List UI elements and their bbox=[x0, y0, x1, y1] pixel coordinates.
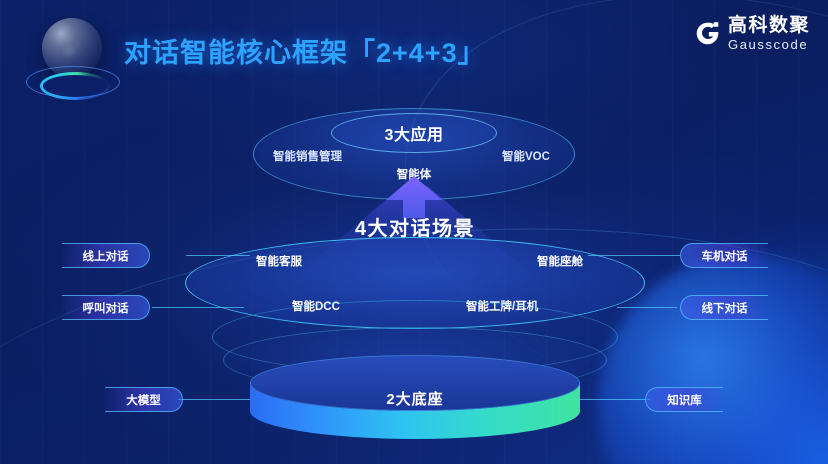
page-title: 对话智能核心框架「2+4+3」 bbox=[124, 31, 486, 70]
connector-line-invehicle bbox=[588, 255, 680, 256]
scenario-item-cockpit: 智能座舱 bbox=[537, 253, 583, 269]
connector-line-knowledge bbox=[570, 399, 650, 400]
brand-name-en: Gausscode bbox=[728, 38, 810, 51]
foundation-layer-title: 2大底座 bbox=[250, 388, 580, 409]
channel-pill-online[interactable]: 线上对话 bbox=[62, 243, 150, 268]
gausscode-g-mark-icon bbox=[694, 20, 721, 47]
brand-logo: 高科数聚 Gausscode bbox=[694, 16, 810, 51]
brand-logo-text: 高科数聚 Gausscode bbox=[728, 16, 810, 51]
application-item-sales: 智能销售管理 bbox=[273, 148, 342, 164]
connector-line-call bbox=[152, 307, 244, 308]
scenario-item-customer-service: 智能客服 bbox=[256, 253, 302, 269]
slide-canvas: 对话智能核心框架「2+4+3」 高科数聚 Gausscode 3大应用 智能销售… bbox=[0, 0, 828, 464]
application-layer-title: 3大应用 bbox=[331, 121, 497, 145]
foundation-pill-llm[interactable]: 大模型 bbox=[105, 387, 183, 412]
channel-pill-call[interactable]: 呼叫对话 bbox=[62, 295, 150, 320]
brand-name-cn: 高科数聚 bbox=[728, 16, 810, 35]
sphere-3d-icon bbox=[26, 14, 118, 102]
connector-line-offline bbox=[617, 307, 677, 308]
application-item-voc: 智能VOC bbox=[502, 148, 550, 164]
sphere-ring-inner bbox=[40, 72, 110, 100]
connector-line-online bbox=[186, 255, 250, 256]
channel-pill-invehicle[interactable]: 车机对话 bbox=[680, 243, 768, 268]
foundation-pill-knowledge[interactable]: 知识库 bbox=[645, 387, 723, 412]
channel-pill-offline[interactable]: 线下对话 bbox=[680, 295, 768, 320]
